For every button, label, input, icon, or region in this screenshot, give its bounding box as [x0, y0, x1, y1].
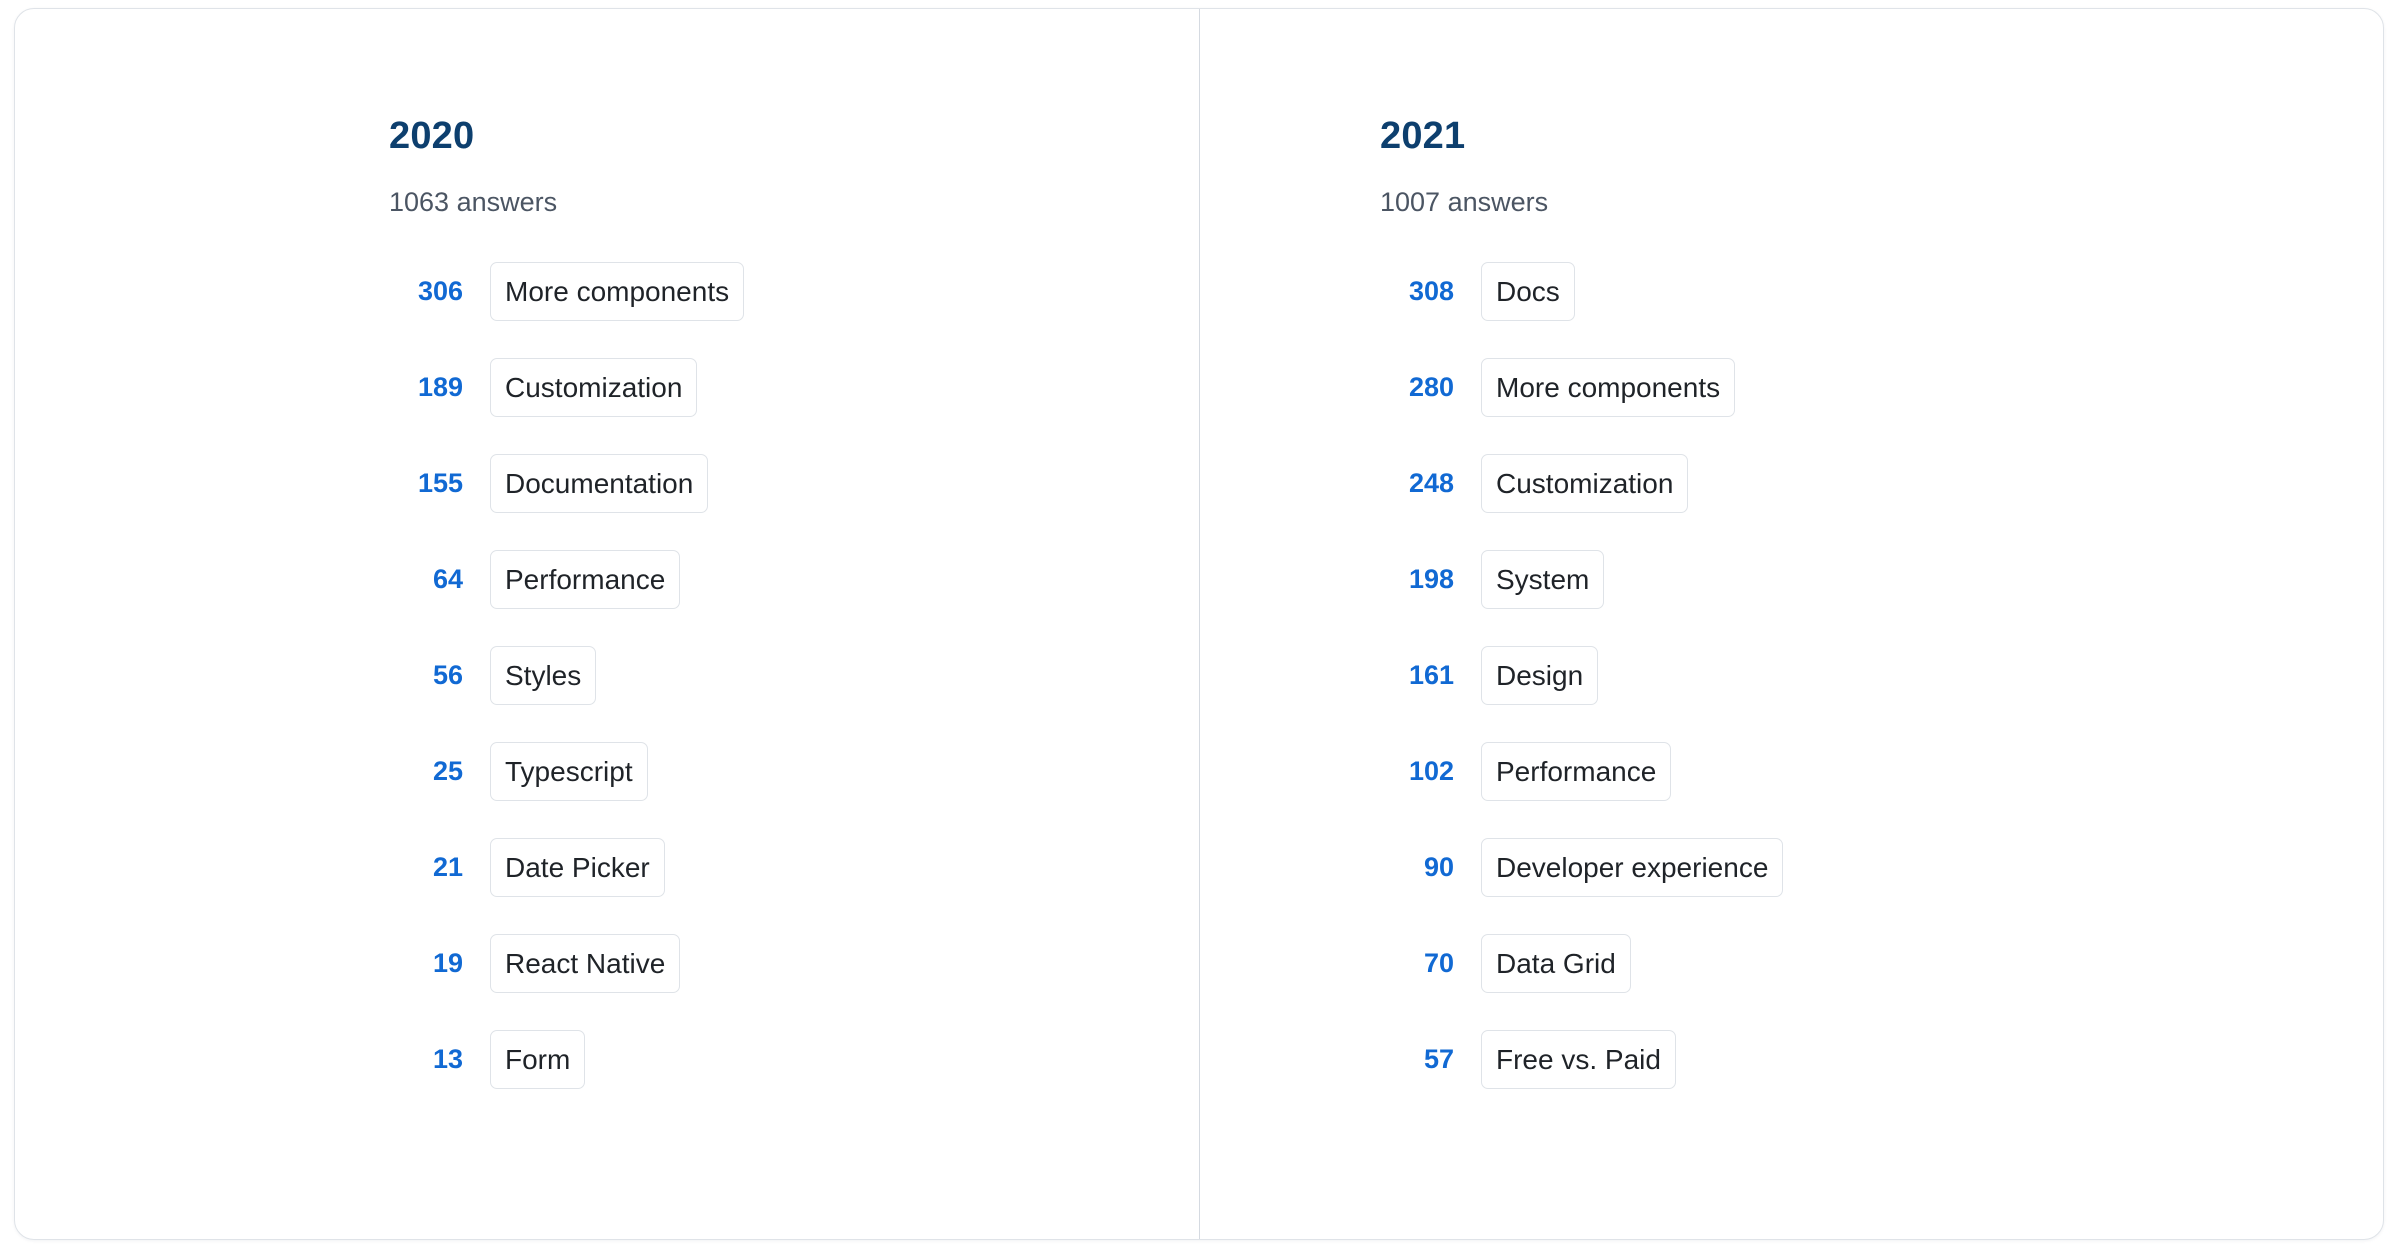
- answer-list-2021: 308 Docs 280 More components 248 Customi…: [1380, 260, 2383, 1091]
- answer-count: 102: [1380, 758, 1454, 785]
- list-item[interactable]: 56 Styles: [389, 644, 1199, 707]
- list-item[interactable]: 13 Form: [389, 1028, 1199, 1091]
- column-content-2021: 2021 1007 answers 308 Docs 280 More comp…: [1200, 9, 2383, 1091]
- list-item[interactable]: 280 More components: [1380, 356, 2383, 419]
- list-item[interactable]: 198 System: [1380, 548, 2383, 611]
- list-item[interactable]: 25 Typescript: [389, 740, 1199, 803]
- answer-count: 25: [389, 758, 463, 785]
- answer-chip[interactable]: Date Picker: [490, 838, 665, 897]
- year-column-2021: 2021 1007 answers 308 Docs 280 More comp…: [1199, 9, 2383, 1239]
- answer-count: 90: [1380, 854, 1454, 881]
- answer-chip[interactable]: Form: [490, 1030, 585, 1089]
- list-item[interactable]: 248 Customization: [1380, 452, 2383, 515]
- answer-chip[interactable]: Developer experience: [1481, 838, 1783, 897]
- answer-count: 57: [1380, 1046, 1454, 1073]
- answer-chip[interactable]: Performance: [1481, 742, 1671, 801]
- answer-chip[interactable]: More components: [490, 262, 744, 321]
- answer-count: 308: [1380, 278, 1454, 305]
- list-item[interactable]: 308 Docs: [1380, 260, 2383, 323]
- answer-chip[interactable]: Documentation: [490, 454, 708, 513]
- answer-chip[interactable]: Docs: [1481, 262, 1575, 321]
- list-item[interactable]: 64 Performance: [389, 548, 1199, 611]
- answer-count: 198: [1380, 566, 1454, 593]
- column-content-2020: 2020 1063 answers 306 More components 18…: [15, 9, 1199, 1091]
- year-heading-2020: 2020: [389, 117, 1199, 155]
- answer-count: 189: [389, 374, 463, 401]
- list-item[interactable]: 21 Date Picker: [389, 836, 1199, 899]
- answer-count: 21: [389, 854, 463, 881]
- answer-count: 56: [389, 662, 463, 689]
- list-item[interactable]: 161 Design: [1380, 644, 2383, 707]
- answer-chip[interactable]: Typescript: [490, 742, 648, 801]
- year-heading-2021: 2021: [1380, 117, 2383, 155]
- answers-count-2020: 1063 answers: [389, 189, 1199, 216]
- answer-count: 70: [1380, 950, 1454, 977]
- answer-chip[interactable]: Design: [1481, 646, 1598, 705]
- answer-chip[interactable]: Free vs. Paid: [1481, 1030, 1676, 1089]
- list-item[interactable]: 57 Free vs. Paid: [1380, 1028, 2383, 1091]
- list-item[interactable]: 90 Developer experience: [1380, 836, 2383, 899]
- list-item[interactable]: 70 Data Grid: [1380, 932, 2383, 995]
- answer-count: 155: [389, 470, 463, 497]
- answer-chip[interactable]: System: [1481, 550, 1604, 609]
- answers-count-2021: 1007 answers: [1380, 189, 2383, 216]
- survey-comparison-card: 2020 1063 answers 306 More components 18…: [14, 8, 2384, 1240]
- answer-chip[interactable]: Customization: [1481, 454, 1688, 513]
- answer-chip[interactable]: React Native: [490, 934, 680, 993]
- answer-count: 306: [389, 278, 463, 305]
- answer-count: 19: [389, 950, 463, 977]
- list-item[interactable]: 155 Documentation: [389, 452, 1199, 515]
- answer-count: 13: [389, 1046, 463, 1073]
- answer-chip[interactable]: Performance: [490, 550, 680, 609]
- answer-chip[interactable]: More components: [1481, 358, 1735, 417]
- list-item[interactable]: 19 React Native: [389, 932, 1199, 995]
- answer-count: 64: [389, 566, 463, 593]
- answer-chip[interactable]: Data Grid: [1481, 934, 1631, 993]
- answer-list-2020: 306 More components 189 Customization 15…: [389, 260, 1199, 1091]
- answer-count: 161: [1380, 662, 1454, 689]
- answer-count: 248: [1380, 470, 1454, 497]
- answer-count: 280: [1380, 374, 1454, 401]
- list-item[interactable]: 102 Performance: [1380, 740, 2383, 803]
- list-item[interactable]: 189 Customization: [389, 356, 1199, 419]
- answer-chip[interactable]: Styles: [490, 646, 596, 705]
- list-item[interactable]: 306 More components: [389, 260, 1199, 323]
- year-column-2020: 2020 1063 answers 306 More components 18…: [15, 9, 1199, 1239]
- answer-chip[interactable]: Customization: [490, 358, 697, 417]
